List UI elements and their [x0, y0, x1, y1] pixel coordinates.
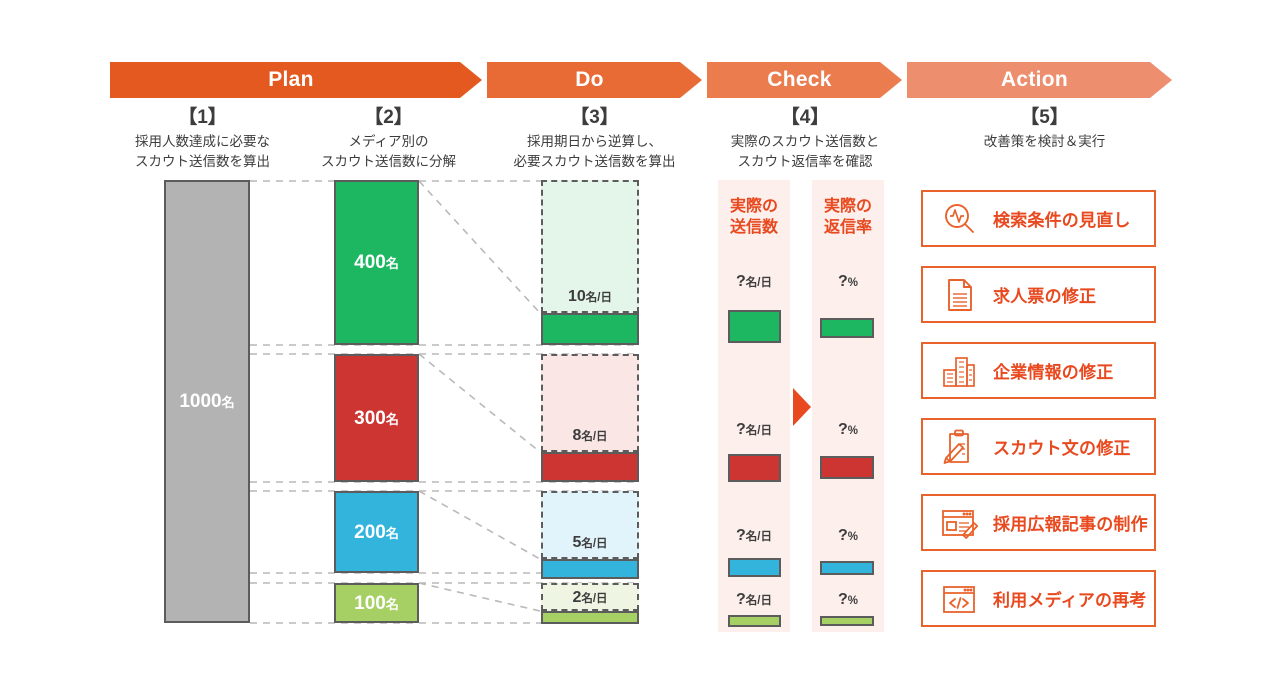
phase-arrow-action: Action	[907, 62, 1172, 98]
phase-label-do: Do	[575, 68, 614, 92]
search-pulse-icon	[939, 199, 979, 239]
actual-reply-bar-1	[820, 318, 874, 338]
daily-box-4-label: 2名/日	[543, 590, 637, 606]
step-number-5: 【5】	[917, 106, 1172, 130]
media-bar-4-value: 100名	[354, 594, 399, 613]
flow-arrow-icon	[793, 388, 811, 426]
step-text-4: 実際のスカウト送信数と スカウト返信率を確認	[700, 132, 910, 173]
step-caption-3: 【3】 採用期日から逆算し、 必要スカウト送信数を算出	[487, 106, 702, 172]
action-card-2[interactable]: 求人票の修正	[921, 266, 1156, 323]
actual-reply-title: 実際の 返信率	[806, 196, 890, 238]
daily-box-1: 10名/日	[541, 180, 639, 313]
daily-bar-2	[541, 452, 639, 482]
step-number-1: 【1】	[110, 106, 295, 130]
actual-sent-label-1: ?名/日	[712, 274, 796, 290]
actual-sent-label-2: ?名/日	[712, 422, 796, 438]
daily-bar-1	[541, 313, 639, 345]
action-card-2-label: 求人票の修正	[993, 282, 1096, 307]
action-card-6[interactable]: 利用メディアの再考	[921, 570, 1156, 627]
actual-reply-label-3: ?%	[806, 528, 890, 544]
pdca-diagram: Plan Do Check Action 【1】 採用人数達成に必要な スカウト…	[0, 0, 1280, 691]
actual-reply-label-1: ?%	[806, 274, 890, 290]
media-bar-4: 100名	[334, 583, 419, 623]
action-card-3[interactable]: 企業情報の修正	[921, 342, 1156, 399]
action-card-4[interactable]: スカウト文の修正	[921, 418, 1156, 475]
daily-bar-4	[541, 611, 639, 624]
phase-arrow-do: Do	[487, 62, 702, 98]
daily-box-3: 5名/日	[541, 491, 639, 559]
actual-sent-bar-2	[728, 454, 781, 482]
action-card-5-label: 採用広報記事の制作	[993, 510, 1148, 535]
actual-reply-label-4: ?%	[806, 592, 890, 608]
media-bar-2: 300名	[334, 354, 419, 482]
action-card-1-label: 検索条件の見直し	[993, 206, 1131, 231]
actual-sent-label-4: ?名/日	[712, 592, 796, 608]
step-caption-2: 【2】 メディア別の スカウト送信数に分解	[296, 106, 481, 172]
action-card-5[interactable]: 採用広報記事の制作	[921, 494, 1156, 551]
phase-label-action: Action	[1001, 68, 1078, 92]
daily-bar-3	[541, 559, 639, 579]
clipboard-pencil-icon	[939, 427, 979, 467]
step-text-2: メディア別の スカウト送信数に分解	[296, 132, 481, 173]
step-caption-4: 【4】 実際のスカウト送信数と スカウト返信率を確認	[700, 106, 910, 172]
action-card-6-label: 利用メディアの再考	[993, 586, 1147, 611]
step-text-3: 採用期日から逆算し、 必要スカウト送信数を算出	[487, 132, 702, 173]
action-card-1[interactable]: 検索条件の見直し	[921, 190, 1156, 247]
phase-label-check: Check	[767, 68, 842, 92]
media-bar-2-value: 300名	[354, 409, 399, 428]
step-text-1: 採用人数達成に必要な スカウト送信数を算出	[110, 132, 295, 173]
media-bar-1-value: 400名	[354, 253, 399, 272]
media-bar-3: 200名	[334, 491, 419, 573]
actual-sent-bar-3	[728, 558, 781, 577]
total-bar: 1000名	[164, 180, 250, 623]
step-caption-5: 【5】 改善策を検討＆実行	[917, 106, 1172, 152]
daily-box-2: 8名/日	[541, 354, 639, 452]
actual-reply-bar-3	[820, 561, 874, 575]
phase-label-plan: Plan	[268, 68, 324, 92]
actual-sent-label-3: ?名/日	[712, 528, 796, 544]
daily-box-3-label: 5名/日	[543, 535, 637, 551]
daily-box-1-label: 10名/日	[543, 289, 637, 305]
actual-reply-label-2: ?%	[806, 422, 890, 438]
step-number-2: 【2】	[296, 106, 481, 130]
code-window-icon	[939, 579, 979, 619]
step-number-4: 【4】	[700, 106, 910, 130]
daily-box-4: 2名/日	[541, 583, 639, 611]
daily-box-2-label: 8名/日	[543, 428, 637, 444]
total-bar-value: 1000名	[179, 392, 234, 411]
step-number-3: 【3】	[487, 106, 702, 130]
step-text-5: 改善策を検討＆実行	[917, 132, 1172, 152]
action-card-4-label: スカウト文の修正	[993, 434, 1131, 459]
buildings-icon	[939, 351, 979, 391]
actual-sent-title: 実際の 送信数	[712, 196, 796, 238]
actual-reply-bar-4	[820, 616, 874, 626]
actual-reply-bar-2	[820, 456, 874, 479]
phase-arrow-check: Check	[707, 62, 902, 98]
action-card-3-label: 企業情報の修正	[993, 358, 1113, 383]
article-pencil-icon	[939, 503, 979, 543]
phase-arrow-plan: Plan	[110, 62, 482, 98]
actual-sent-bar-1	[728, 310, 781, 343]
step-caption-1: 【1】 採用人数達成に必要な スカウト送信数を算出	[110, 106, 295, 172]
actual-sent-bar-4	[728, 615, 781, 627]
media-bar-1: 400名	[334, 180, 419, 345]
document-icon	[939, 275, 979, 315]
media-bar-3-value: 200名	[354, 523, 399, 542]
